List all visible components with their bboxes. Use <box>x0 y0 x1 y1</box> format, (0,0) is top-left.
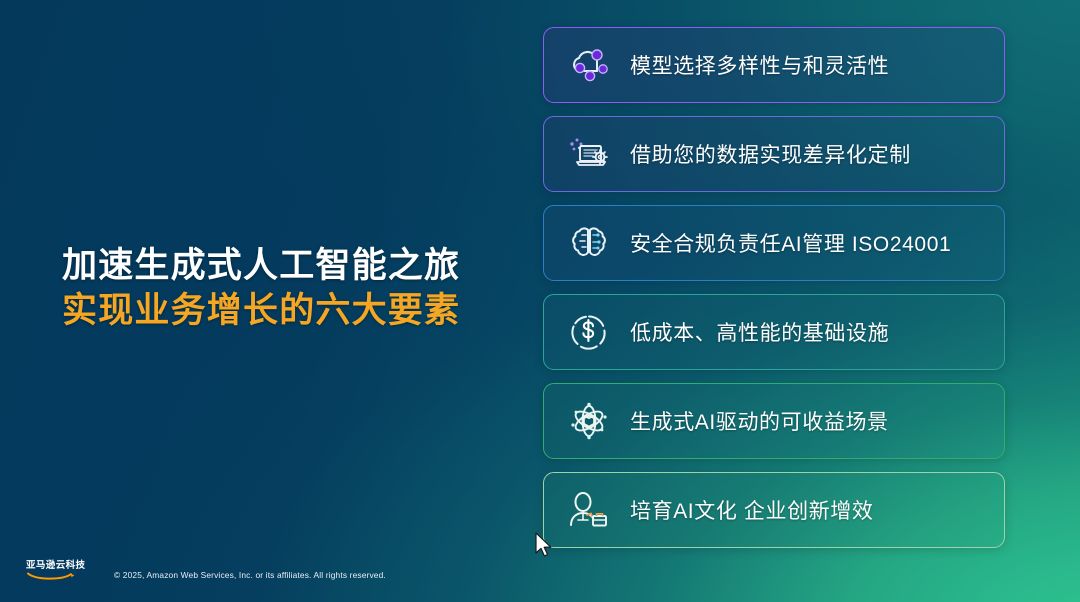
brain-ai-icon <box>562 218 616 268</box>
cloud-network-icon <box>562 40 616 90</box>
feature-card-label: 低成本、高性能的基础设施 <box>630 317 889 347</box>
feature-card-label: 模型选择多样性与和灵活性 <box>630 50 889 80</box>
presentation-slide: 加速生成式人工智能之旅 实现业务增长的六大要素 模型选择多样性与和灵活性 <box>0 0 1080 602</box>
copyright-text: © 2025, Amazon Web Services, Inc. or its… <box>114 570 386 582</box>
person-briefcase-icon <box>562 485 616 535</box>
feature-card-list: 模型选择多样性与和灵活性 <box>543 27 1005 561</box>
feature-card[interactable]: 借助您的数据实现差异化定制 <box>543 116 1005 192</box>
atom-cube-icon <box>562 396 616 446</box>
feature-card-label: 生成式AI驱动的可收益场景 <box>630 406 889 436</box>
aws-china-logo: 亚马逊云科技 <box>26 560 92 582</box>
slide-footer: 亚马逊云科技 © 2025, Amazon Web Services, Inc.… <box>26 560 386 582</box>
feature-card[interactable]: 培育AI文化 企业创新增效 <box>543 472 1005 548</box>
feature-card-label: 借助您的数据实现差异化定制 <box>630 139 911 169</box>
amazon-smile-icon <box>26 572 76 581</box>
mouse-cursor <box>534 532 554 560</box>
feature-card-label: 安全合规负责任AI管理 ISO24001 <box>630 228 951 258</box>
feature-card[interactable]: 安全合规负责任AI管理 ISO24001 <box>543 205 1005 281</box>
feature-card[interactable]: 低成本、高性能的基础设施 <box>543 294 1005 370</box>
headline-block: 加速生成式人工智能之旅 实现业务增长的六大要素 <box>62 243 492 333</box>
feature-card[interactable]: 生成式AI驱动的可收益场景 <box>543 383 1005 459</box>
headline-line-2: 实现业务增长的六大要素 <box>62 288 492 333</box>
headline-line-1: 加速生成式人工智能之旅 <box>62 243 492 288</box>
dollar-circle-icon <box>562 307 616 357</box>
laptop-gear-icon <box>562 129 616 179</box>
aws-china-logo-text: 亚马逊云科技 <box>26 560 92 571</box>
feature-card-label: 培育AI文化 企业创新增效 <box>630 495 873 525</box>
feature-card[interactable]: 模型选择多样性与和灵活性 <box>543 27 1005 103</box>
